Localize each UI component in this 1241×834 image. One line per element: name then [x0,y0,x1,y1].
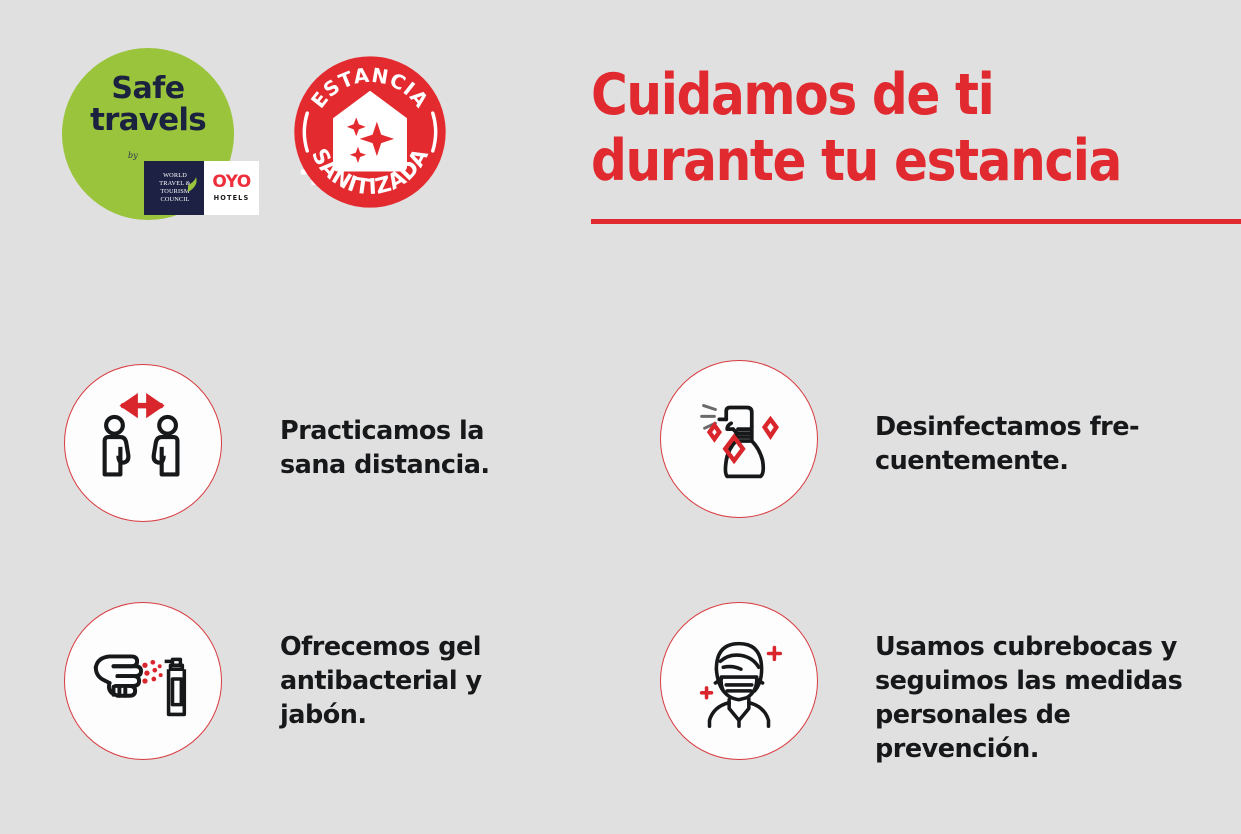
feature-item-sanitizer: Ofrecemos gel antibacterial y jabón. [64,602,482,760]
poster-header: Safe travels by WORLD TRAVEL & TOURISM C… [0,0,1241,260]
safe-travels-line2: travels [62,105,234,137]
safe-travels-badge: Safe travels by WORLD TRAVEL & TOURISM C… [62,48,234,220]
page-title: Cuidamos de ti durante tu estancia [591,62,1241,194]
spray-bottle-sparkle-icon [660,360,818,518]
wttc-swoosh-icon [187,176,199,193]
title-divider-rule [591,219,1241,224]
safety-poster: Safe travels by WORLD TRAVEL & TOURISM C… [0,0,1241,834]
oyo-logo: OYO HOTELS [204,161,259,215]
feature-grid: Practicamos la sana distancia. [0,356,1241,826]
wttc-logo: WORLD TRAVEL & TOURISM COUNCIL [144,161,204,215]
safe-travels-wordmark: Safe travels [62,74,234,136]
feature-label: Desinfectamos fre- cuentemente. [875,410,1139,478]
feature-label: Usamos cubrebocas y seguimos las medidas… [875,630,1241,767]
safe-travels-line1: Safe [62,74,234,105]
logo-row: Safe travels by WORLD TRAVEL & TOURISM C… [62,48,452,218]
feature-label: Ofrecemos gel antibacterial y jabón. [280,630,482,732]
person-face-mask-icon [660,602,818,760]
social-distancing-icon [64,364,222,522]
feature-item-social-distancing: Practicamos la sana distancia. [64,364,490,522]
hand-sanitizer-icon [64,602,222,760]
oyo-wordmark: OYO [212,174,250,191]
oyo-sub-label: HOTELS [214,194,250,202]
feature-item-face-mask: Usamos cubrebocas y seguimos las medidas… [660,602,1241,767]
estancia-sanitizada-badge: ESTANCIA SANITIZADA [284,46,456,218]
title-line-1: Cuidamos de ti [591,62,1163,128]
by-label: by [128,151,138,160]
feature-item-disinfecting: Desinfectamos fre- cuentemente. [660,360,1139,518]
title-line-2: durante tu estancia [591,128,1163,194]
feature-label: Practicamos la sana distancia. [280,414,490,482]
